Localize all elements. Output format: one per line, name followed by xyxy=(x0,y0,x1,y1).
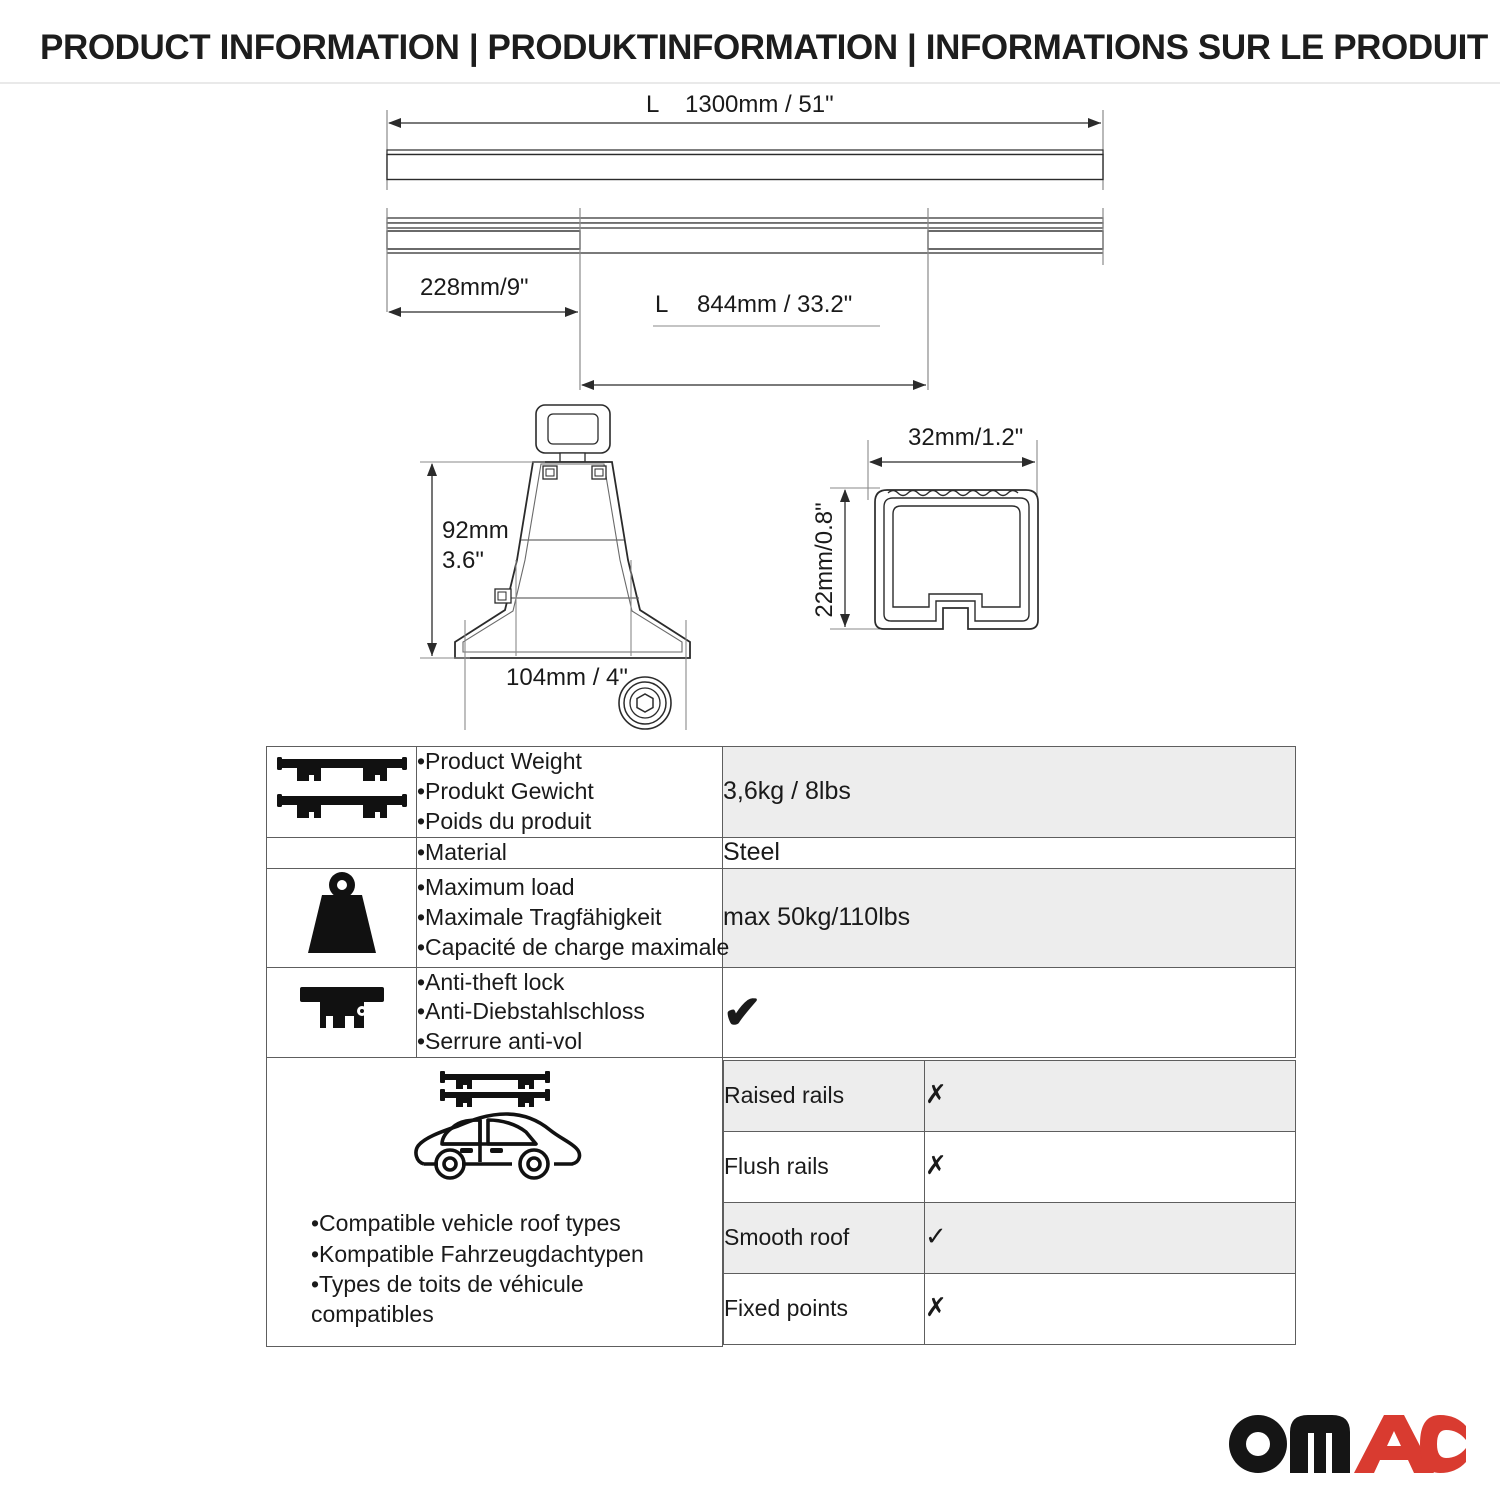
dim-foot-height-in: 3.6" xyxy=(442,547,484,574)
dim-offset-value: 228mm/9" xyxy=(420,274,529,301)
roof-type-name: Raised rails xyxy=(724,1060,925,1131)
roof-type-row: Smooth roof ✓ xyxy=(724,1202,1296,1273)
dim-span-value: 844mm / 33.2" xyxy=(697,291,852,318)
roof-type-mark: ✗ xyxy=(925,1273,1296,1344)
row-label-product-weight: •Product Weight •Produkt Gewicht •Poids … xyxy=(417,747,723,838)
roof-type-mark: ✗ xyxy=(925,1131,1296,1202)
dim-span-symbol: L xyxy=(655,291,668,318)
label-line: •Produkt Gewicht xyxy=(417,777,722,807)
page-title: PRODUCT INFORMATION | PRODUKTINFORMATION… xyxy=(40,28,1470,68)
dim-length-value: 1300mm / 51" xyxy=(685,91,834,118)
label-line: •Capacité de charge maximale xyxy=(417,933,722,963)
row-value-material: Steel xyxy=(723,837,1296,868)
roof-type-name: Smooth roof xyxy=(724,1202,925,1273)
cross-icon: ✗ xyxy=(925,1151,947,1181)
dim-length-symbol: L xyxy=(646,91,659,118)
row-value-product-weight: 3,6kg / 8lbs xyxy=(723,747,1296,838)
roof-types-label-cell: •Compatible vehicle roof types •Kompatib… xyxy=(267,1058,723,1346)
label-line: •Serrure anti-vol xyxy=(417,1027,722,1057)
table-row-roof-types: •Compatible vehicle roof types •Kompatib… xyxy=(267,1058,1296,1346)
dim-foot-width: 104mm / 4" xyxy=(506,664,628,691)
technical-drawing: L 1300mm / 51" 228mm/9" L 844mm / 33.2" xyxy=(0,90,1500,730)
label-line: •Compatible vehicle roof types xyxy=(311,1208,714,1238)
weight-icon-svg xyxy=(294,869,390,961)
cross-icon: ✗ xyxy=(925,1293,947,1323)
material-icon-placeholder xyxy=(267,837,417,868)
roof-type-mark: ✗ xyxy=(925,1060,1296,1131)
two-crossbars-icon xyxy=(267,747,417,838)
lock-icon xyxy=(267,967,417,1058)
label-line: compatibles xyxy=(311,1299,714,1329)
label-line: •Poids du produit xyxy=(417,807,722,837)
label-line: •Maximale Tragfähigkeit xyxy=(417,903,722,933)
row-label-anti-theft-lock: •Anti-theft lock •Anti-Diebstahlschloss … xyxy=(417,967,723,1058)
dim-profile-height: 22mm/0.8" xyxy=(811,502,838,617)
label-line: •Maximum load xyxy=(417,873,722,903)
two-crossbars-icon-svg xyxy=(273,751,411,827)
label-line: •Product Weight xyxy=(417,747,722,777)
label-line: •Anti-Diebstahlschloss xyxy=(417,997,722,1027)
row-label-maximum-load: •Maximum load •Maximale Tragfähigkeit •C… xyxy=(417,868,723,967)
table-row: •Material Steel xyxy=(267,837,1296,868)
header-divider xyxy=(0,82,1500,84)
table-row: •Anti-theft lock •Anti-Diebstahlschloss … xyxy=(267,967,1296,1058)
roof-type-row: Flush rails ✗ xyxy=(724,1131,1296,1202)
label-line: •Types de toits de véhicule xyxy=(311,1269,714,1299)
roof-type-name: Fixed points xyxy=(724,1273,925,1344)
omac-logo-svg xyxy=(1228,1412,1468,1476)
specification-table: •Product Weight •Produkt Gewicht •Poids … xyxy=(266,746,1296,1347)
car-with-roof-rack-icon xyxy=(402,1068,588,1196)
roof-types-matrix-cell: Raised rails ✗ Flush rails ✗ xyxy=(723,1058,1296,1346)
table-row: •Maximum load •Maximale Tragfähigkeit •C… xyxy=(267,868,1296,967)
roof-type-row: Fixed points ✗ xyxy=(724,1273,1296,1344)
dim-profile-width: 32mm/1.2" xyxy=(908,424,1023,451)
row-value-anti-theft-lock: ✔ xyxy=(723,967,1296,1058)
label-line: •Anti-theft lock xyxy=(417,968,722,998)
checkmark-icon: ✔ xyxy=(723,986,762,1038)
label-line: •Kompatible Fahrzeugdachtypen xyxy=(311,1239,714,1269)
roof-types-labels: •Compatible vehicle roof types •Kompatib… xyxy=(275,1208,714,1329)
row-value-maximum-load: max 50kg/110lbs xyxy=(723,868,1296,967)
roof-type-name: Flush rails xyxy=(724,1131,925,1202)
check-icon: ✓ xyxy=(925,1222,947,1252)
cross-icon: ✗ xyxy=(925,1080,947,1110)
table-row: •Product Weight •Produkt Gewicht •Poids … xyxy=(267,747,1296,838)
omac-logo xyxy=(1228,1412,1468,1476)
roof-type-row: Raised rails ✗ xyxy=(724,1060,1296,1131)
label-line: •Material xyxy=(417,838,722,868)
weight-icon xyxy=(267,868,417,967)
row-label-material: •Material xyxy=(417,837,723,868)
dim-foot-height-mm: 92mm xyxy=(442,517,509,544)
lock-icon-svg xyxy=(292,977,392,1041)
roof-types-table: Raised rails ✗ Flush rails ✗ xyxy=(723,1060,1296,1345)
roof-type-mark: ✓ xyxy=(925,1202,1296,1273)
